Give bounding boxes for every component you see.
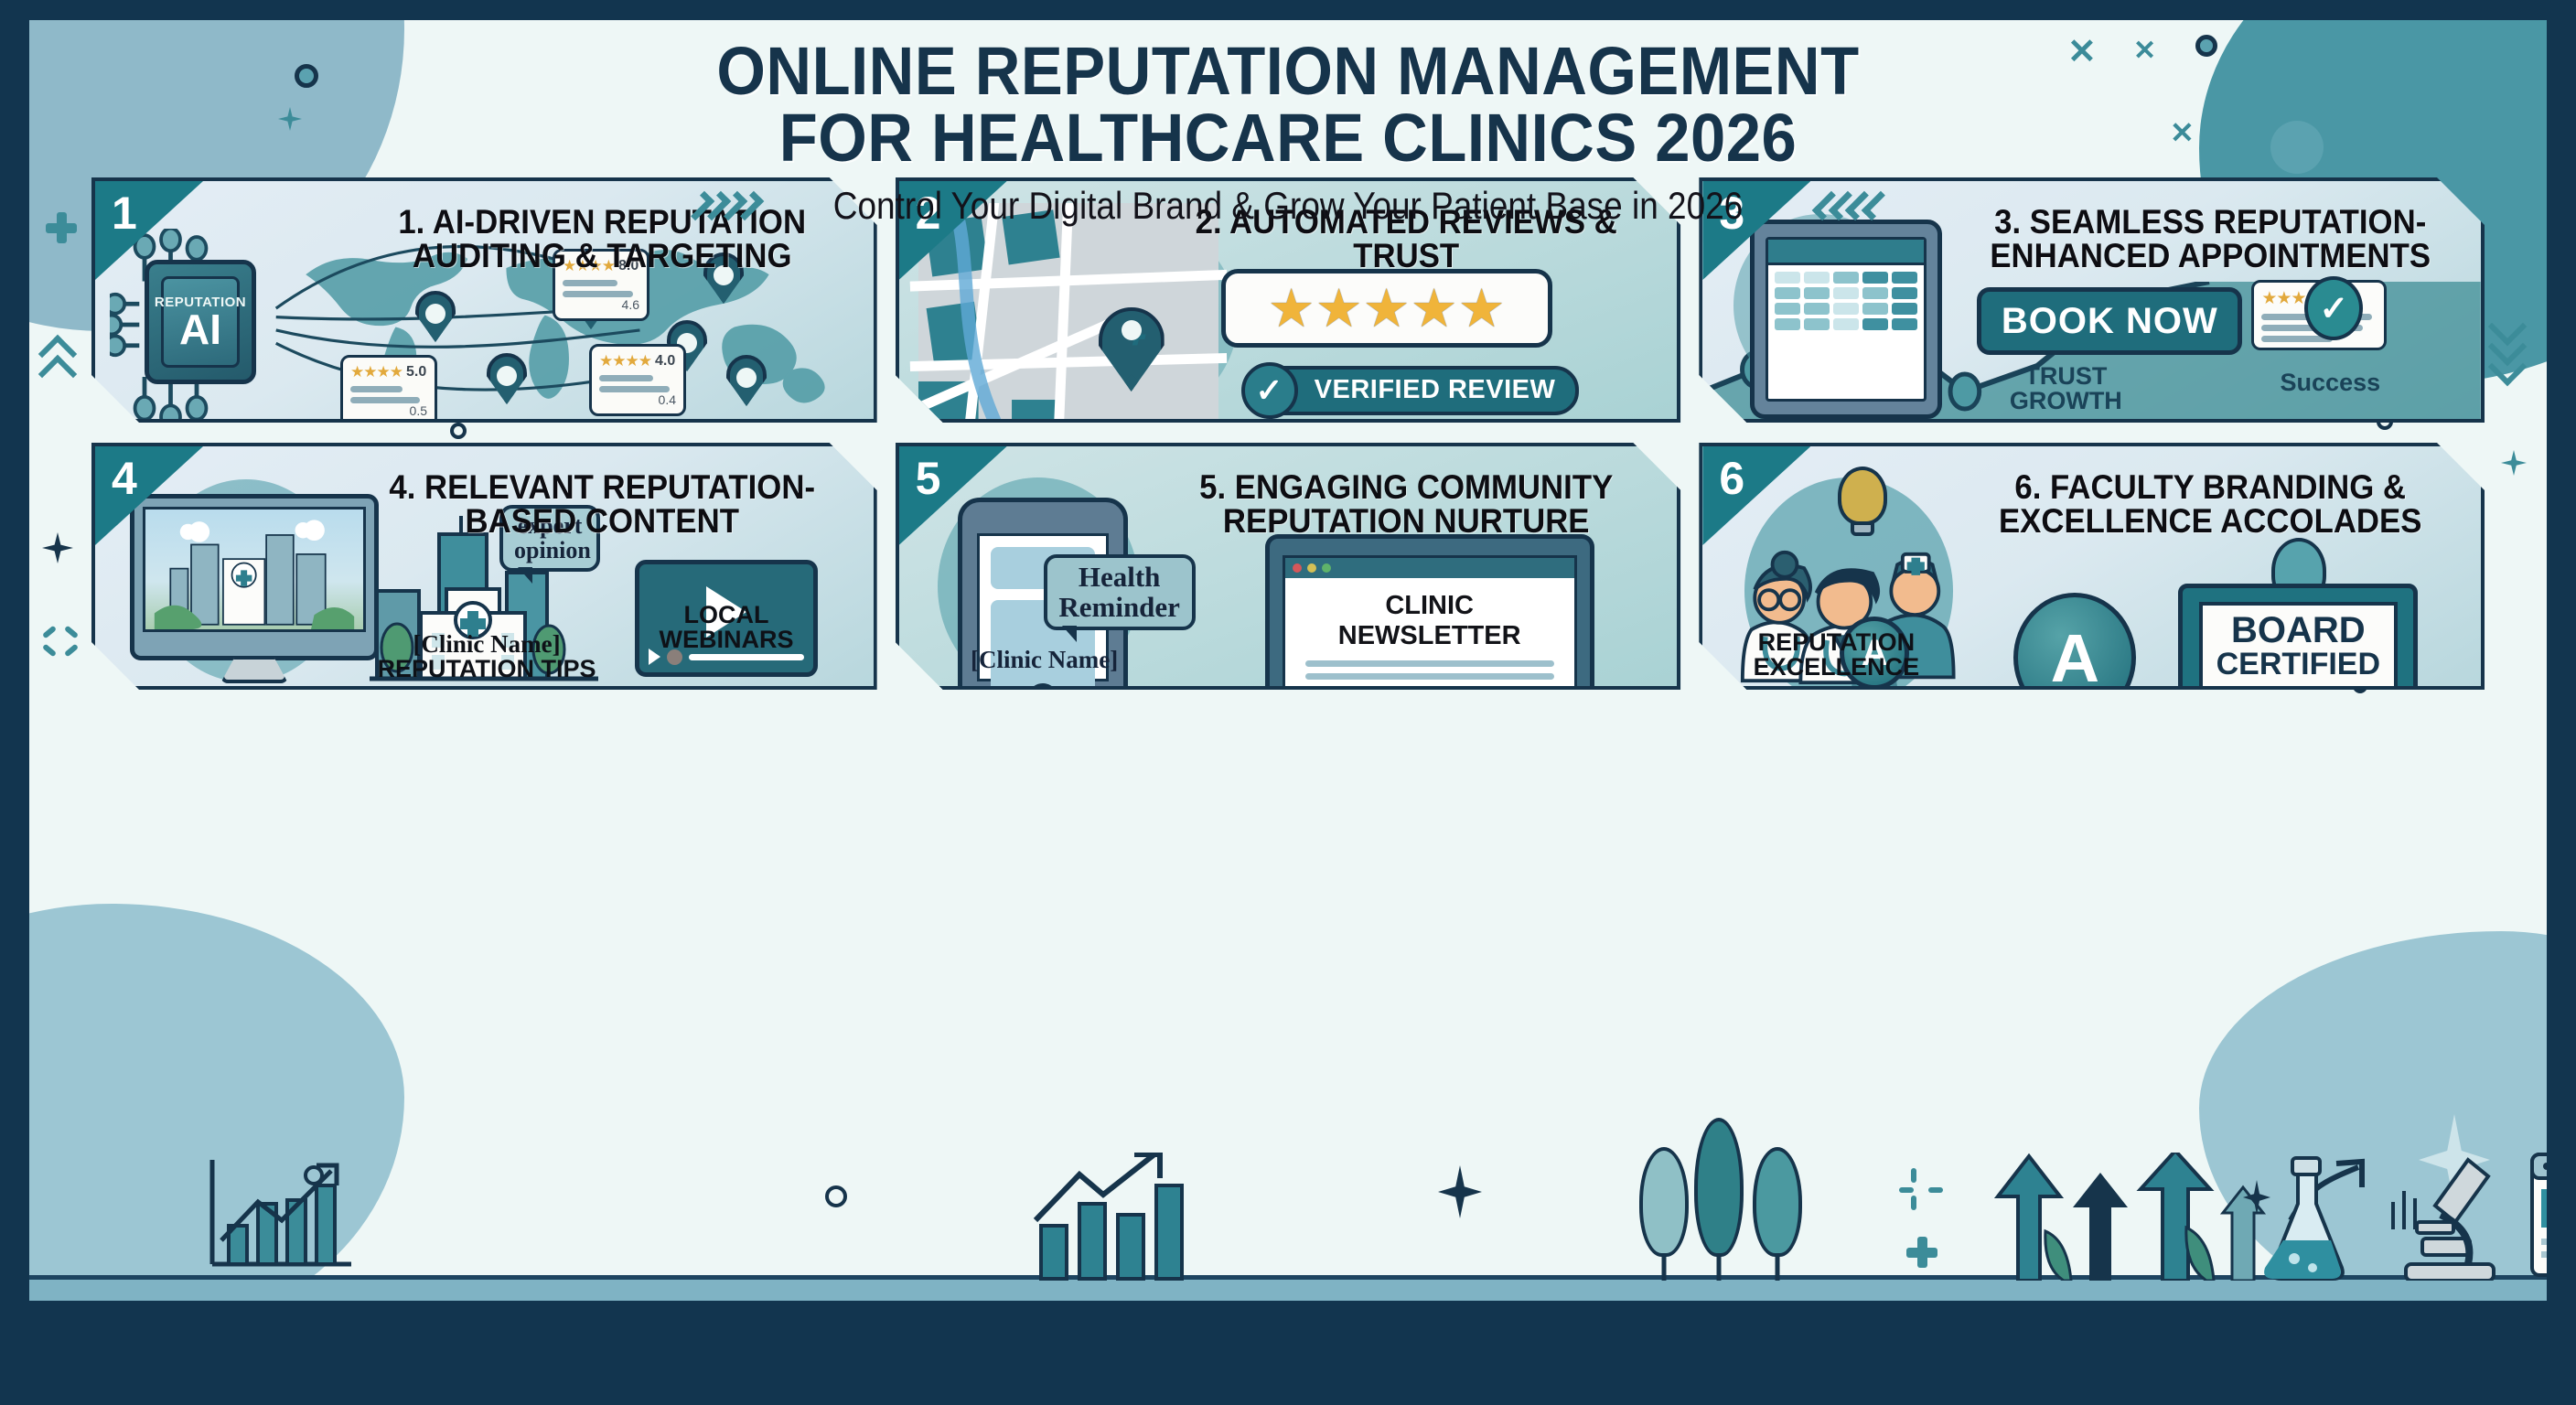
decor-ring-icon — [825, 1185, 847, 1207]
rating-stars: ★★★★ — [599, 352, 651, 370]
check-icon: ✓ — [1241, 362, 1298, 419]
calendar-header — [1768, 240, 1924, 265]
poster-header: ONLINE REPUTATION MANAGEMENT FOR HEALTHC… — [29, 38, 2547, 228]
video-progress-bar[interactable] — [689, 654, 804, 660]
success-check-icon: ✓ — [2304, 276, 2363, 340]
burst-icon — [1903, 1171, 1939, 1207]
caption-local-webinars: LOCAL WEBINARS — [626, 603, 827, 653]
rating-value: 4.0 — [655, 353, 675, 370]
tree-icon — [1694, 1118, 1744, 1257]
rating-sub: 0.5 — [350, 403, 427, 418]
chevron-right-decor-left — [692, 192, 757, 220]
rating-sub: 4.6 — [563, 297, 639, 312]
poster-subtitle-row: Control Your Digital Brand & Grow Your P… — [29, 184, 2547, 228]
bottom-decor-strip — [29, 1153, 2547, 1281]
trend-label-success: Success — [2257, 370, 2403, 395]
caption-clinic-reputation-tips: [Clinic Name] REPUTATION TIPS — [368, 632, 606, 682]
rating-card: ★★★★5.0 0.5 — [340, 355, 437, 423]
five-stars: ★★★★★ — [1268, 277, 1506, 339]
chevron-up-icon — [44, 340, 71, 381]
laptop-screen: CLINIC NEWSLETTER Our Patient Stories — [1283, 555, 1577, 690]
book-now-button[interactable]: BOOK NOW — [1977, 287, 2242, 355]
burst-icon — [42, 624, 79, 660]
verified-review-badge[interactable]: ✓ VERIFIED REVIEW — [1258, 366, 1580, 415]
phone-clinic-name: [Clinic Name] — [967, 646, 1122, 674]
sparkle-icon — [1438, 1165, 1482, 1218]
plus-icon — [1906, 1237, 1937, 1268]
sparkle-icon — [42, 532, 73, 563]
rating-stars: ★★★★ — [350, 363, 402, 381]
star-rating-panel: ★★★★★ — [1221, 269, 1552, 348]
tablet-screen — [1766, 237, 1927, 402]
card-5-number: 5 — [916, 452, 941, 505]
rating-value: 5.0 — [406, 364, 426, 381]
monitor-stand — [220, 656, 288, 683]
poster-subtitle: Control Your Digital Brand & Grow Your P… — [833, 184, 1743, 228]
browser-chrome — [1285, 558, 1574, 578]
card-4[interactable]: 4 — [91, 443, 877, 690]
tablet-calendar — [1750, 220, 1942, 419]
desktop-monitor — [130, 494, 379, 660]
card-6-number: 6 — [1719, 452, 1744, 505]
rating-card: ★★★★4.0 0.4 — [589, 344, 686, 416]
card-6-title: 6. FACULTY BRANDING & EXCELLENCE ACCOLAD… — [1976, 470, 2444, 538]
poster-title-line1: ONLINE REPUTATION MANAGEMENT — [117, 38, 2458, 105]
chevron-down-icon — [2494, 313, 2521, 373]
grade-a-ribbon-large: A — [2013, 593, 2136, 690]
bottom-dark-band — [29, 1301, 2547, 1389]
reputation-ai-chip: REPUTATION AI — [145, 260, 256, 384]
chip-label-block: REPUTATION AI — [161, 276, 240, 368]
tree-icon — [1639, 1147, 1689, 1257]
card-5[interactable]: 5 Health Reminder [Clinic Name] — [896, 443, 1681, 690]
chevron-left-decor-right — [1819, 192, 1884, 220]
card-4-title: 4. RELEVANT REPUTATION-BASED CONTENT — [369, 470, 837, 538]
laptop: CLINIC NEWSLETTER Our Patient Stories — [1265, 534, 1594, 690]
tree-icon — [1753, 1147, 1802, 1257]
card-4-number: 4 — [112, 452, 137, 505]
poster-title-line2: FOR HEALTHCARE CLINICS 2026 — [117, 105, 2458, 172]
book-now-label: BOOK NOW — [2002, 301, 2218, 342]
board-certified-inner: BOARD CERTIFIED — [2199, 602, 2398, 690]
rating-sub: 0.4 — [599, 392, 676, 407]
board-certified-badge: BOARD CERTIFIED — [2178, 584, 2418, 690]
trend-label-trust-growth: TRUST GROWTH — [1997, 364, 2134, 413]
chip-label-main: AI — [179, 310, 221, 350]
card-5-title: 5. ENGAGING COMMUNITY REPUTATION NURTURE — [1172, 470, 1640, 538]
poster-inner-frame: ✕ ✕ ✕ ONLINE REPUTATION MANAGEMENT FOR H… — [29, 20, 2547, 1389]
health-reminder-bubble: Health Reminder — [1044, 554, 1196, 630]
sparkle-icon — [2501, 450, 2527, 476]
calendar-grid — [1768, 265, 1924, 337]
monitor-screen — [143, 507, 366, 632]
verified-review-label: VERIFIED REVIEW — [1315, 375, 1556, 405]
caption-reputation-excellence: REPUTATION EXCELLENCE — [1726, 630, 1946, 681]
ribbon-letter: A — [2051, 619, 2099, 691]
cards-grid: 1 — [91, 177, 2485, 690]
card-6[interactable]: 6 — [1699, 443, 2485, 690]
decor-ring-icon — [304, 1165, 324, 1185]
infographic-poster: ✕ ✕ ✕ ONLINE REPUTATION MANAGEMENT FOR H… — [0, 0, 2576, 1405]
newsletter-title: CLINIC NEWSLETTER — [1305, 591, 1554, 651]
